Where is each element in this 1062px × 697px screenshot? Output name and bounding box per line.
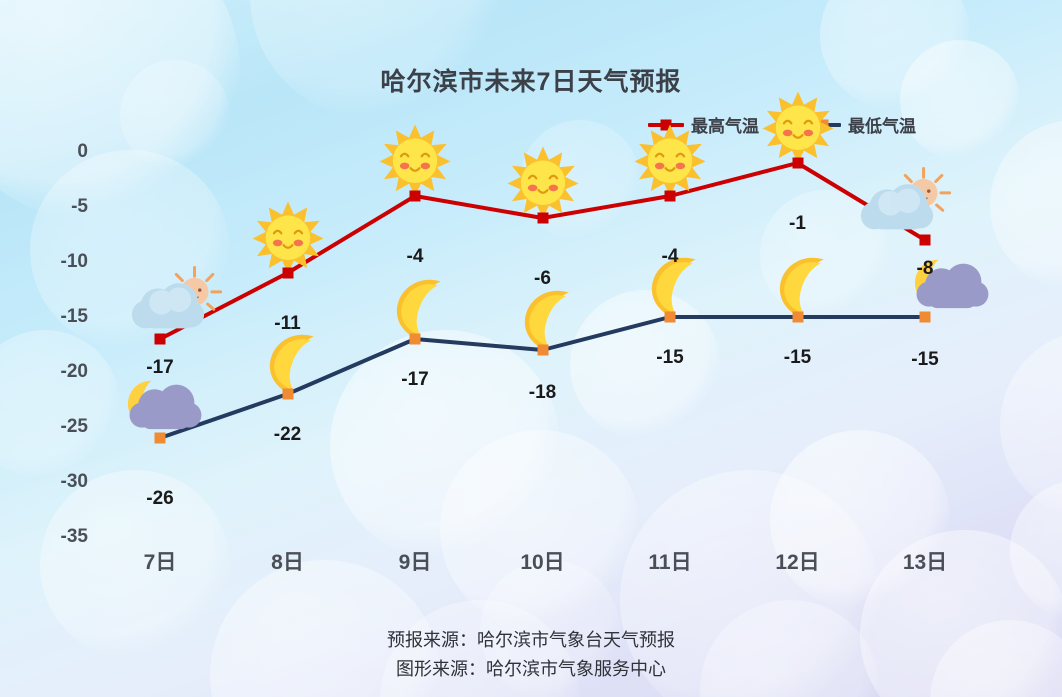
data-point-marker xyxy=(537,345,548,356)
data-point-marker xyxy=(537,213,548,224)
data-label: -6 xyxy=(498,268,588,290)
data-label: -1 xyxy=(753,213,843,235)
y-axis: 0-5-10-15-20-25-30-35 xyxy=(14,0,88,697)
data-label: -15 xyxy=(880,349,970,371)
x-axis-tick-label: 7日 xyxy=(100,546,220,576)
data-point-marker xyxy=(282,268,293,279)
y-axis-tick-label: -15 xyxy=(14,306,88,328)
x-axis-tick-label: 12日 xyxy=(738,546,858,576)
data-point-marker xyxy=(410,191,421,202)
footer-source-forecast: 预报来源：哈尔滨市气象台天气预报 xyxy=(0,626,1062,655)
data-label: -15 xyxy=(753,347,843,369)
x-axis-tick-label: 10日 xyxy=(483,546,603,576)
data-label: -26 xyxy=(115,488,205,510)
x-axis-tick-label: 8日 xyxy=(228,546,348,576)
data-label: -15 xyxy=(625,347,715,369)
data-label: -4 xyxy=(625,246,715,268)
data-point-marker xyxy=(665,191,676,202)
data-label: -4 xyxy=(370,246,460,268)
data-label: -17 xyxy=(115,357,205,379)
data-point-marker xyxy=(792,158,803,169)
data-point-marker xyxy=(792,312,803,323)
weather-forecast-chart: 哈尔滨市未来7日天气预报 最高气温 最低气温 0-5-10-15-20-25-3… xyxy=(0,0,1062,697)
y-axis-tick-label: -10 xyxy=(14,251,88,273)
data-point-marker xyxy=(665,312,676,323)
y-axis-tick-label: 0 xyxy=(14,141,88,163)
data-label: -18 xyxy=(498,382,588,404)
x-axis-tick-label: 11日 xyxy=(610,546,730,576)
y-axis-tick-label: -20 xyxy=(14,361,88,383)
data-point-marker xyxy=(155,433,166,444)
data-point-marker xyxy=(282,389,293,400)
data-label: -11 xyxy=(243,313,333,335)
y-axis-tick-label: -30 xyxy=(14,471,88,493)
series-line-low xyxy=(160,317,925,438)
footer-source-graphic: 图形来源：哈尔滨市气象服务中心 xyxy=(0,655,1062,684)
data-label: -22 xyxy=(243,424,333,446)
data-point-marker xyxy=(920,312,931,323)
data-label: -8 xyxy=(880,258,970,280)
x-axis-tick-label: 13日 xyxy=(865,546,985,576)
y-axis-tick-label: -35 xyxy=(14,526,88,548)
data-point-marker xyxy=(410,334,421,345)
data-label: -17 xyxy=(370,369,460,391)
y-axis-tick-label: -25 xyxy=(14,416,88,438)
y-axis-tick-label: -5 xyxy=(14,196,88,218)
x-axis-tick-label: 9日 xyxy=(355,546,475,576)
data-point-marker xyxy=(920,235,931,246)
data-point-marker xyxy=(155,334,166,345)
footer: 预报来源：哈尔滨市气象台天气预报 图形来源：哈尔滨市气象服务中心 xyxy=(0,626,1062,684)
